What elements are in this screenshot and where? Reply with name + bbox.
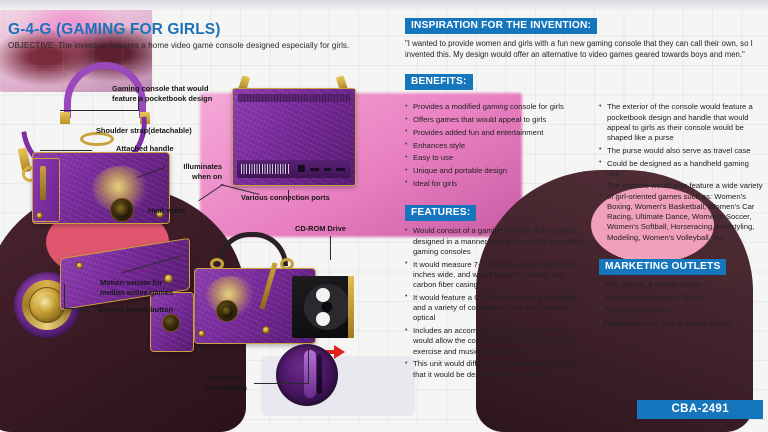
marketing-list: Toy, Game, & Hobby Stores Discount Depar… <box>599 280 763 328</box>
leader-line-power-v <box>64 284 65 309</box>
list-item: It would feature a CD-ROM drive, wi-fi c… <box>405 293 587 324</box>
list-item: It would measure 7-1/2 inches square and… <box>405 260 587 291</box>
benefits-right-list: The exterior of the console would featur… <box>599 102 763 243</box>
callout-illuminates-when-on: Illuminates when on <box>166 162 222 181</box>
list-item: Wholesalers of Toys & Hobby Goods <box>599 319 763 329</box>
list-item: This unit would differ from the standard… <box>405 359 587 379</box>
page-title: G-4-G (GAMING FOR GIRLS) <box>8 21 221 39</box>
callout-connection-ports: Various connection ports <box>241 193 330 203</box>
list-item: Discount Department Stores <box>599 293 763 303</box>
callout-system-power-button: System power button <box>98 305 173 315</box>
marketing-heading: MARKETING OUTLETS <box>599 259 726 275</box>
list-item: Provides added fun and entertainment <box>405 128 587 138</box>
list-item: The exterior of the console would featur… <box>599 102 763 143</box>
callout-pocketbook-design: Gaming console that would feature a pock… <box>112 84 252 103</box>
callout-heat-vents: Heat vents <box>148 206 185 216</box>
list-item: Ideal for girls <box>405 179 587 189</box>
leader-line-cdrom <box>330 236 331 260</box>
list-item: Could be designed as a handheld gaming u… <box>599 159 763 179</box>
inspiration-quote: "I wanted to provide women and girls wit… <box>405 39 760 60</box>
list-item: The console would also feature a wide va… <box>599 181 763 242</box>
benefits-heading: BENEFITS: <box>405 74 473 90</box>
leader-line-eject-v <box>308 344 309 384</box>
list-item: Includes an accompanying motion sensor t… <box>405 326 587 357</box>
list-item: Unique and portable design <box>405 166 587 176</box>
features-list: Would consist of a gaming console that c… <box>405 226 587 379</box>
list-item: Offers games that would appeal to girls <box>405 115 587 125</box>
list-item: Electronics Stores <box>599 306 763 316</box>
objective-text: OBJECTIVE: The invention features a home… <box>8 41 388 50</box>
benefits-left-list: Provides a modified gaming console for g… <box>405 102 587 189</box>
callout-attached-handle: Attached handle <box>116 144 174 154</box>
right-panel: INSPIRATION FOR THE INVENTION: "I wanted… <box>405 15 763 382</box>
list-item: Enhances style <box>405 141 587 151</box>
leader-line-power <box>64 308 94 309</box>
list-item: Toy, Game, & Hobby Stores <box>599 280 763 290</box>
leader-line-pocketbook <box>60 110 138 111</box>
leader-line-strap <box>40 150 92 151</box>
reference-code-badge: CBA-2491 <box>637 400 763 419</box>
illustration-eject-button-detail <box>276 344 338 406</box>
inspiration-heading: INSPIRATION FOR THE INVENTION: <box>405 18 597 34</box>
callout-shoulder-strap: Shoulder strap(detachable) <box>96 126 192 136</box>
callout-disk-tray-eject: Disk tray eject button <box>197 373 255 392</box>
leader-line-eject <box>254 383 308 384</box>
list-item: The purse would also serve as travel cas… <box>599 146 763 156</box>
features-heading: FEATURES: <box>405 205 476 221</box>
illustration-motion-sensor-unit <box>150 292 194 352</box>
list-item: Would consist of a gaming console that c… <box>405 226 587 257</box>
list-item: Easy to use <box>405 153 587 163</box>
callout-motion-sensor: Motion sensor for motion active games <box>100 278 220 297</box>
list-item: Provides a modified gaming console for g… <box>405 102 587 112</box>
top-strip <box>0 0 768 10</box>
callout-cd-rom-drive: CD-ROM Drive <box>295 224 346 234</box>
